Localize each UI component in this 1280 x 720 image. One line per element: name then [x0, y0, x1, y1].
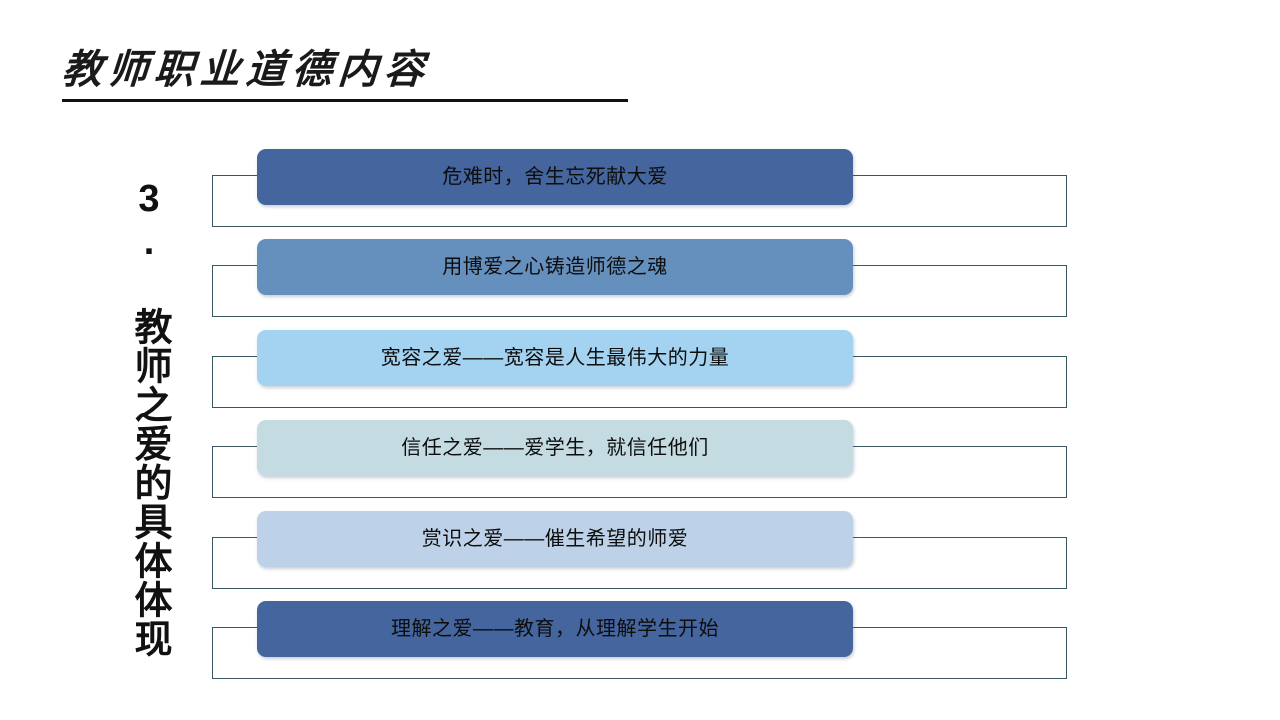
content-row: 危难时，舍生忘死献大爱	[0, 149, 1280, 239]
content-row: 用博爱之心铸造师德之魂	[0, 239, 1280, 329]
row-pill[interactable]: 信任之爱——爱学生，就信任他们	[257, 420, 853, 476]
content-rows: 危难时，舍生忘死献大爱用博爱之心铸造师德之魂宽容之爱——宽容是人生最伟大的力量信…	[0, 0, 1280, 720]
content-row: 信任之爱——爱学生，就信任他们	[0, 420, 1280, 510]
row-pill-label: 危难时，舍生忘死献大爱	[442, 167, 668, 187]
row-pill[interactable]: 危难时，舍生忘死献大爱	[257, 149, 853, 205]
content-row: 宽容之爱——宽容是人生最伟大的力量	[0, 330, 1280, 420]
row-pill[interactable]: 用博爱之心铸造师德之魂	[257, 239, 853, 295]
row-pill-label: 用博爱之心铸造师德之魂	[442, 257, 668, 277]
row-pill-label: 赏识之爱——催生希望的师爱	[422, 529, 689, 549]
row-pill-label: 理解之爱——教育，从理解学生开始	[391, 619, 719, 639]
content-row: 理解之爱——教育，从理解学生开始	[0, 601, 1280, 691]
row-pill[interactable]: 理解之爱——教育，从理解学生开始	[257, 601, 853, 657]
content-row: 赏识之爱——催生希望的师爱	[0, 511, 1280, 601]
row-pill[interactable]: 赏识之爱——催生希望的师爱	[257, 511, 853, 567]
row-pill[interactable]: 宽容之爱——宽容是人生最伟大的力量	[257, 330, 853, 386]
row-pill-label: 信任之爱——爱学生，就信任他们	[401, 438, 709, 458]
row-pill-label: 宽容之爱——宽容是人生最伟大的力量	[381, 348, 730, 368]
